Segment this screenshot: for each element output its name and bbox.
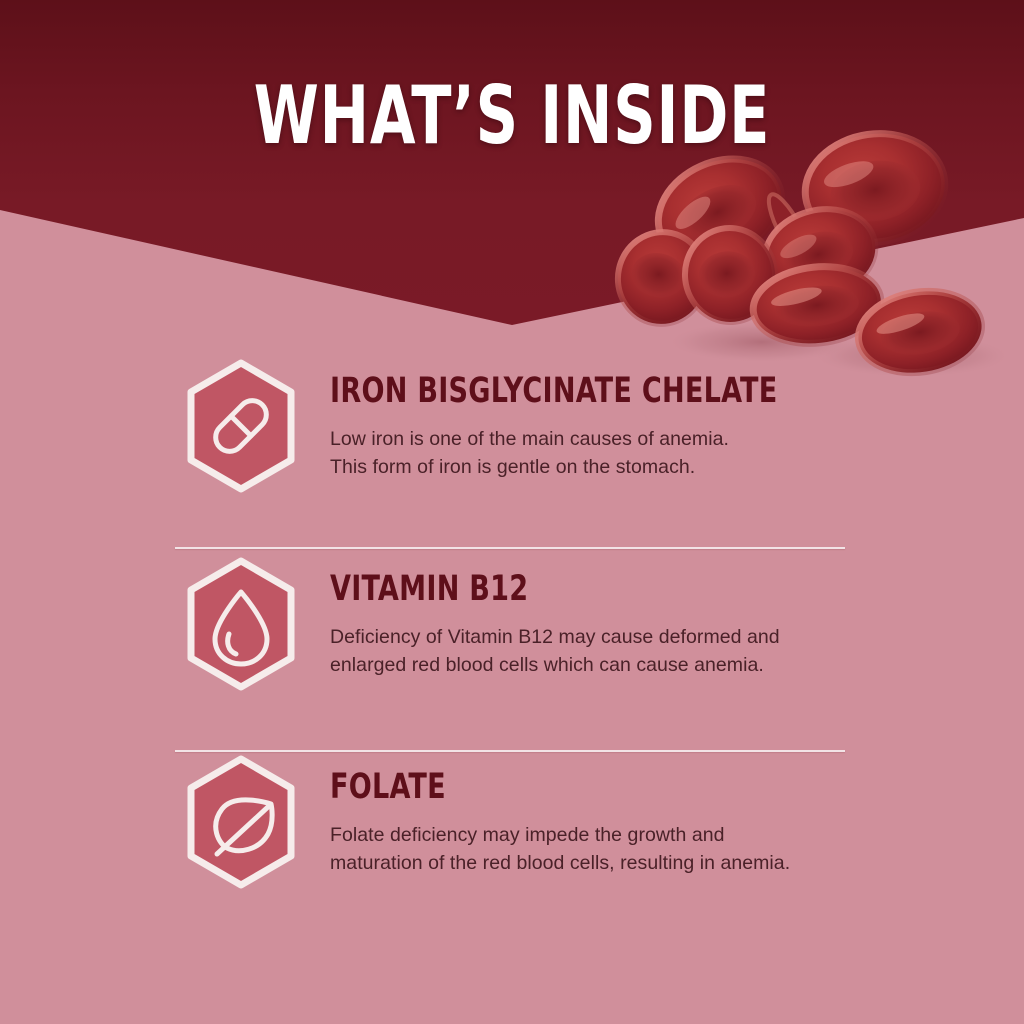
- ingredient-item-vitamin-b12: VITAMIN B12 Deficiency of Vitamin B12 ma…: [0, 550, 1024, 748]
- description-line: Deficiency of Vitamin B12 may cause defo…: [330, 624, 780, 652]
- description-line: This form of iron is gentle on the stoma…: [330, 454, 850, 482]
- ingredient-title: FOLATE: [330, 770, 726, 805]
- leaf-icon: [183, 754, 299, 890]
- ingredient-text-folate: FOLATE Folate deficiency may impede the …: [330, 748, 790, 877]
- section-divider: [175, 750, 845, 752]
- ingredient-title: VITAMIN B12: [330, 572, 717, 607]
- ingredient-title: IRON BISGLYCINATE CHELATE: [330, 374, 778, 409]
- description-line: enlarged red blood cells which can cause…: [330, 652, 780, 680]
- ingredient-description: Folate deficiency may impede the growth …: [330, 822, 790, 877]
- ingredient-text-iron: IRON BISGLYCINATE CHELATE Low iron is on…: [330, 352, 850, 481]
- description-line: Low iron is one of the main causes of an…: [330, 426, 850, 454]
- ingredient-description: Low iron is one of the main causes of an…: [330, 426, 850, 481]
- ingredient-list: IRON BISGLYCINATE CHELATE Low iron is on…: [0, 352, 1024, 946]
- section-divider: [175, 547, 845, 549]
- ingredient-item-folate: FOLATE Folate deficiency may impede the …: [0, 748, 1024, 946]
- ingredient-item-iron: IRON BISGLYCINATE CHELATE Low iron is on…: [0, 352, 1024, 550]
- infographic-poster: WHAT’S INSIDE: [0, 0, 1024, 1024]
- red-blood-cells-illustration: [612, 110, 1024, 385]
- ingredient-description: Deficiency of Vitamin B12 may cause defo…: [330, 624, 780, 679]
- pill-capsule-icon: [183, 358, 299, 494]
- ingredient-text-vitamin-b12: VITAMIN B12 Deficiency of Vitamin B12 ma…: [330, 550, 780, 679]
- blood-drop-icon: [183, 556, 299, 692]
- description-line: Folate deficiency may impede the growth …: [330, 822, 790, 850]
- description-line: maturation of the red blood cells, resul…: [330, 850, 790, 878]
